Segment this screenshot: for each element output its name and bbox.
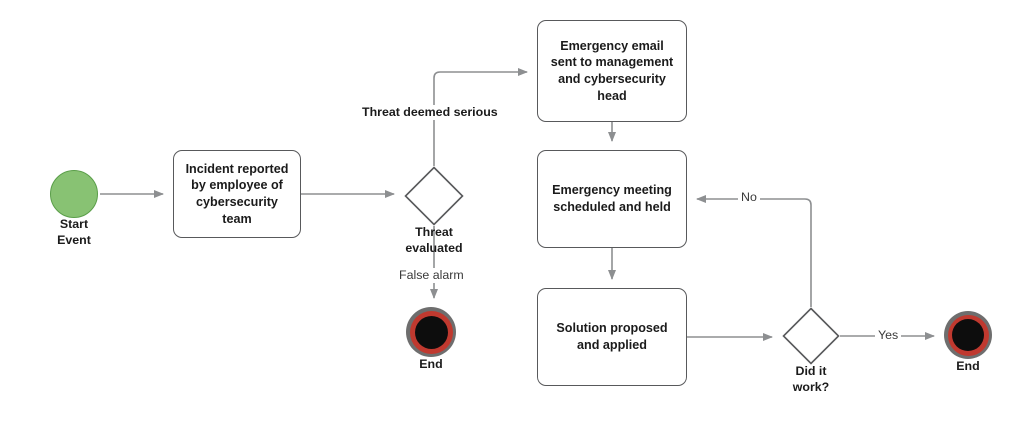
flowchart-canvas: Start Event Incident reported by employe… <box>0 0 1024 424</box>
start-event-node[interactable] <box>50 170 98 218</box>
edge-label-false-alarm: False alarm <box>396 268 467 283</box>
edge-layer <box>0 0 1024 424</box>
end-event-resolved-label: End <box>918 358 1018 374</box>
edge-label-yes: Yes <box>875 328 901 343</box>
process-solution-applied[interactable]: Solution proposed and applied <box>537 288 687 386</box>
edge-label-threat-deemed-serious: Threat deemed serious <box>359 105 501 120</box>
process-incident-reported[interactable]: Incident reported by employee of cyberse… <box>173 150 301 238</box>
edge-label-no: No <box>738 190 760 205</box>
process-emergency-email[interactable]: Emergency email sent to management and c… <box>537 20 687 122</box>
end-event-core <box>415 316 448 349</box>
decision-threat-evaluated-label: Threat evaluated <box>384 224 484 256</box>
process-emergency-email-label: Emergency email sent to management and c… <box>547 38 677 105</box>
start-event-label: Start Event <box>24 216 124 248</box>
end-event-false-alarm-label: End <box>381 356 481 372</box>
decision-threat-evaluated-shape <box>404 166 464 226</box>
decision-threat-evaluated[interactable] <box>404 166 464 226</box>
start-event-circle <box>50 170 98 218</box>
decision-did-it-work[interactable] <box>782 307 840 365</box>
end-event-resolved[interactable] <box>944 311 992 359</box>
end-event-false-alarm[interactable] <box>406 307 456 357</box>
process-incident-reported-label: Incident reported by employee of cyberse… <box>183 161 291 228</box>
edge-decision-no <box>697 199 811 307</box>
process-emergency-meeting-label: Emergency meeting scheduled and held <box>547 182 677 215</box>
end-event-core <box>952 319 984 351</box>
process-emergency-meeting[interactable]: Emergency meeting scheduled and held <box>537 150 687 248</box>
process-solution-applied-label: Solution proposed and applied <box>547 320 677 353</box>
decision-did-it-work-shape <box>782 307 840 365</box>
decision-did-it-work-label: Did it work? <box>761 363 861 395</box>
